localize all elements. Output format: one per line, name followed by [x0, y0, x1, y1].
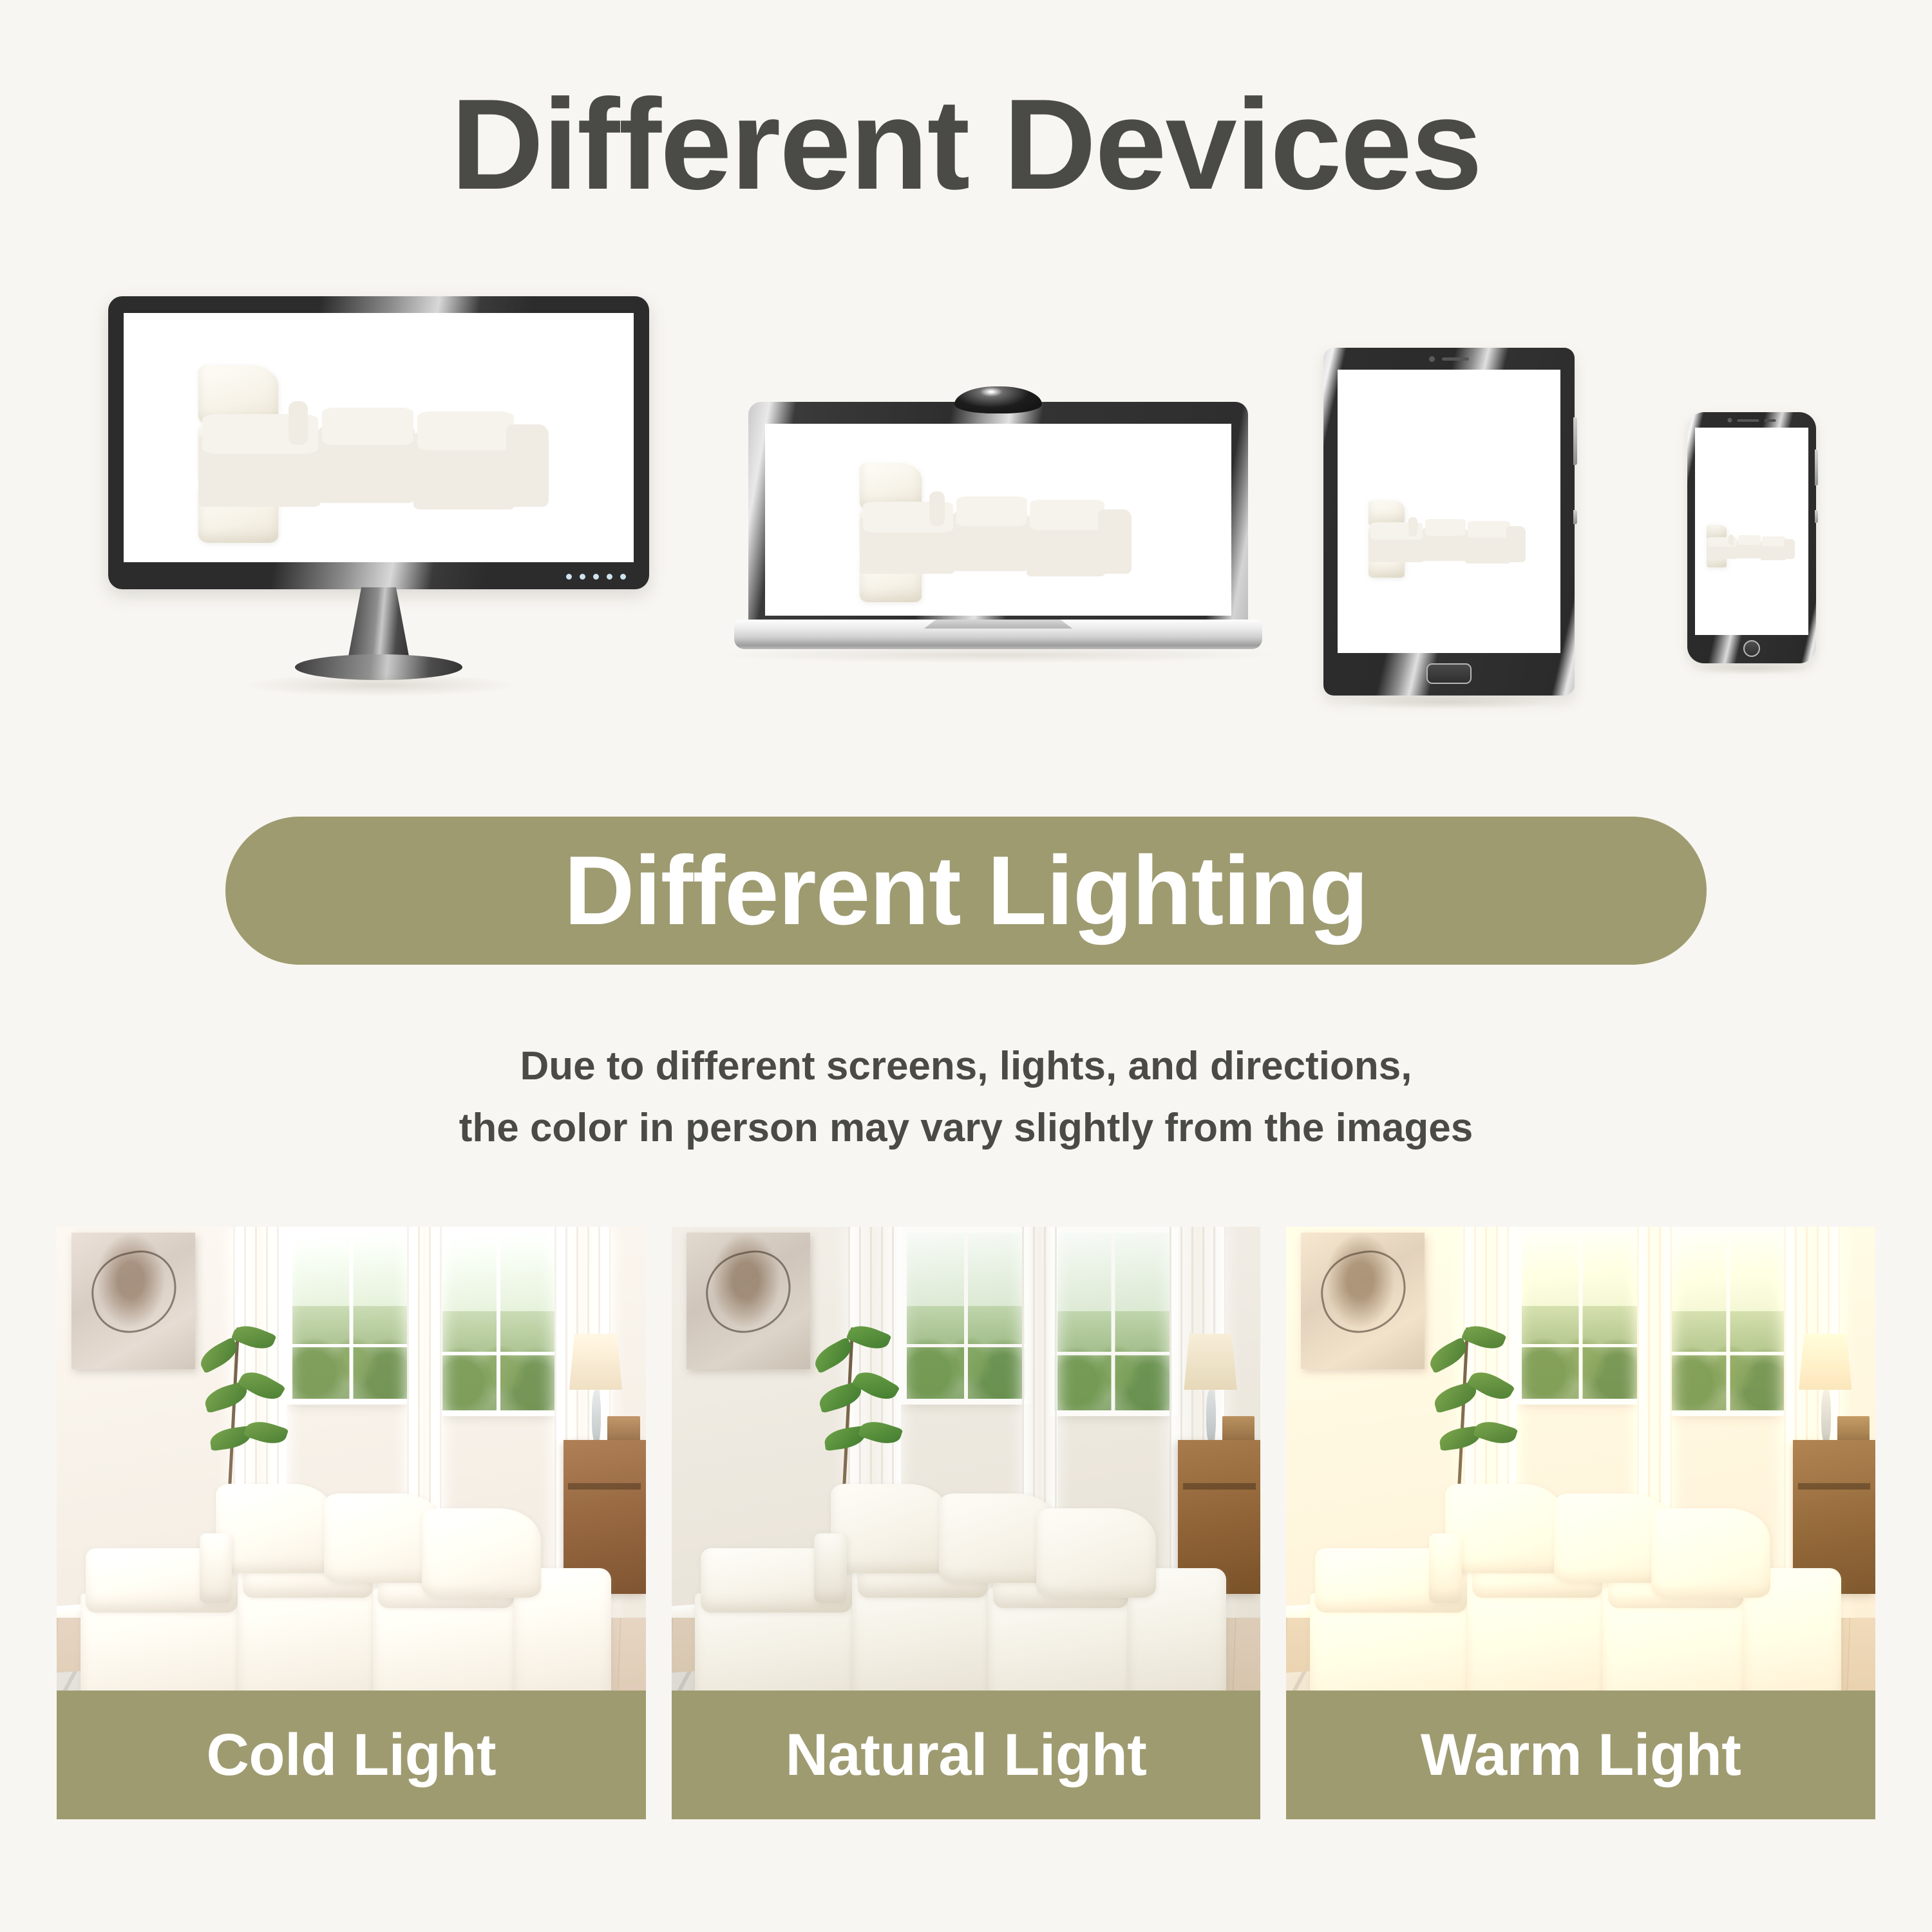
tablet-home-button[interactable] — [1426, 663, 1472, 684]
device-phone — [1687, 412, 1816, 663]
disclaimer-line-2: the color in person may vary slightly fr… — [0, 1097, 1932, 1159]
phone-home-button[interactable] — [1743, 640, 1760, 657]
earpiece-speaker-icon — [1738, 419, 1759, 422]
camera-lens-icon — [1728, 418, 1732, 422]
monitor-screen — [124, 313, 634, 562]
window-mullions — [1054, 1233, 1172, 1410]
window-left — [1516, 1227, 1645, 1405]
window-mullions — [1522, 1233, 1640, 1399]
lamp-stem — [1206, 1390, 1216, 1443]
laptop-webcam-icon — [954, 386, 1042, 413]
tablet-bezel — [1323, 348, 1575, 696]
window-left — [287, 1227, 416, 1405]
camera-lens-icon — [1429, 356, 1435, 362]
panel-caption-label: Natural Light — [786, 1725, 1147, 1785]
wall-art — [1301, 1233, 1425, 1369]
wall-art — [71, 1233, 195, 1369]
lamp-stem — [592, 1390, 601, 1443]
phone-power-button[interactable] — [1815, 510, 1818, 523]
tablet-camera-icon — [1429, 356, 1469, 362]
tablet-power-button[interactable] — [1573, 510, 1577, 524]
tablet-shadow — [1343, 694, 1555, 710]
lamp-shade — [1184, 1334, 1236, 1390]
sofa-product-image — [1368, 500, 1529, 567]
panel-caption-label: Cold Light — [206, 1725, 496, 1785]
window-right — [1663, 1227, 1793, 1416]
window-mullions — [439, 1233, 557, 1410]
lamp-shade — [569, 1334, 622, 1390]
phone-volume-button[interactable] — [1815, 450, 1818, 486]
panel-caption-label: Warm Light — [1421, 1725, 1741, 1785]
laptop-trackpad-notch — [924, 620, 1072, 629]
device-laptop — [734, 386, 1262, 663]
lamp-stem — [1821, 1390, 1831, 1443]
lighting-banner-label: Different Lighting — [564, 842, 1368, 940]
window-mullions — [907, 1233, 1025, 1399]
tablet-screen — [1338, 370, 1560, 653]
lighting-panel-cold: Cold Light — [57, 1227, 646, 1819]
panel-caption: Warm Light — [1286, 1690, 1875, 1819]
phone-shadow — [1690, 662, 1813, 675]
infographic-page: Different Devices — [0, 0, 1932, 1932]
phone-screen — [1695, 428, 1808, 635]
tablet-volume-button[interactable] — [1573, 417, 1577, 465]
devices-row — [0, 283, 1932, 747]
disclaimer-text: Due to different screens, lights, and di… — [0, 1036, 1932, 1159]
phone-bezel — [1687, 412, 1816, 663]
laptop-lid — [748, 402, 1248, 622]
lighting-banner: Different Lighting — [225, 817, 1707, 965]
monitor-stand-neck — [348, 587, 410, 659]
lighting-panel-warm: Warm Light — [1286, 1227, 1875, 1819]
monitor-led-indicators — [566, 574, 626, 580]
monitor-shadow — [240, 674, 517, 697]
panel-caption: Cold Light — [57, 1690, 646, 1819]
laptop-shadow — [721, 647, 1275, 663]
window-left — [901, 1227, 1030, 1405]
proximity-sensor-icon — [1765, 419, 1776, 422]
speaker-slot-icon — [1442, 357, 1469, 361]
sofa-product-image — [860, 463, 1137, 584]
sofa-product-image — [198, 365, 559, 520]
disclaimer-line-1: Due to different screens, lights, and di… — [0, 1036, 1932, 1097]
laptop-screen — [765, 424, 1231, 616]
window-mullions — [1669, 1233, 1787, 1410]
device-monitor — [108, 296, 649, 683]
window-right — [433, 1227, 563, 1416]
panel-caption: Natural Light — [672, 1690, 1261, 1819]
wall-art — [687, 1233, 810, 1369]
sofa-product-image — [1707, 525, 1797, 562]
lighting-panel-natural: Natural Light — [672, 1227, 1261, 1819]
phone-sensor-cluster — [1728, 418, 1776, 422]
page-title: Different Devices — [0, 77, 1932, 213]
lamp-shade — [1799, 1334, 1851, 1390]
monitor-bezel — [108, 296, 649, 589]
window-mullions — [292, 1233, 410, 1399]
window-right — [1048, 1227, 1178, 1416]
lighting-panels: Cold Light — [57, 1227, 1875, 1819]
device-tablet — [1323, 348, 1575, 696]
